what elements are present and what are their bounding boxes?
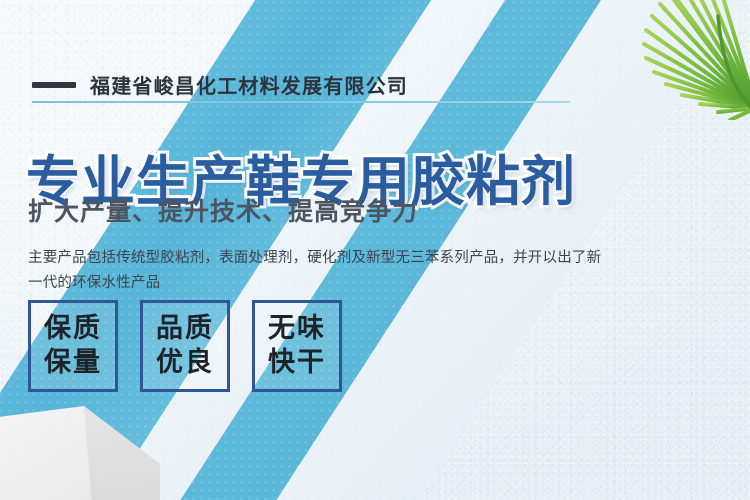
description-text: 主要产品包括传统型胶粘剂，表面处理剂，硬化剂及新型无三苯系列产品，并开以出了新一… — [28, 246, 608, 296]
dash-rule-icon — [32, 82, 76, 88]
banner-content: 福建省峻昌化工材料发展有限公司 专业生产鞋专用胶粘剂 扩大产量、提升技术、提高竞… — [0, 0, 750, 500]
feature-badge: 保质 保量 — [28, 300, 118, 392]
feature-badge-list: 保质 保量 品质 优良 无味 快干 — [28, 300, 342, 392]
feature-badge-line1: 品质 — [156, 313, 214, 345]
feature-badge-line1: 保质 — [44, 313, 102, 345]
company-name: 福建省峻昌化工材料发展有限公司 — [90, 70, 408, 99]
feature-badge-line2: 优良 — [156, 347, 214, 379]
feature-badge-line1: 无味 — [268, 313, 326, 345]
feature-badge-line2: 保量 — [44, 347, 102, 379]
company-row: 福建省峻昌化工材料发展有限公司 — [32, 70, 408, 99]
header-divider — [32, 101, 570, 103]
subtitle: 扩大产量、提升技术、提高竞争力 — [28, 192, 418, 228]
feature-badge-line2: 快干 — [268, 347, 326, 379]
feature-badge: 品质 优良 — [140, 300, 230, 392]
feature-badge: 无味 快干 — [252, 300, 342, 392]
promo-banner: 福建省峻昌化工材料发展有限公司 专业生产鞋专用胶粘剂 扩大产量、提升技术、提高竞… — [0, 0, 750, 500]
